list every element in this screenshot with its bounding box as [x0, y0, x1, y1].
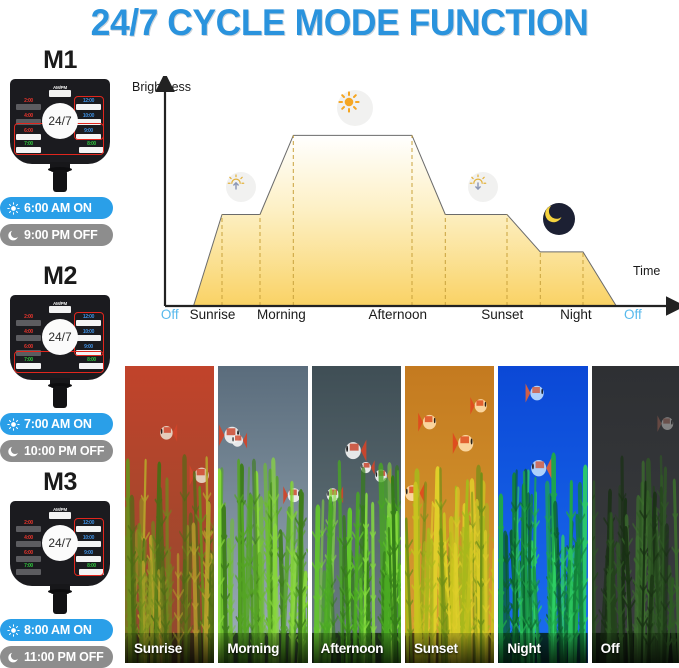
ampm-button[interactable] — [49, 306, 71, 313]
plant-foliage — [218, 449, 307, 663]
timer-key[interactable]: 10:00 — [76, 535, 101, 547]
x-tick-label: Night — [560, 307, 592, 322]
timer-key-column-left: 2:00 4:00 6:00 — [16, 98, 41, 143]
sun-icon — [7, 624, 20, 637]
device-cable — [53, 170, 67, 192]
x-tick-label: Sunset — [481, 307, 523, 322]
panel-plants — [125, 449, 214, 663]
plant-foliage — [125, 449, 214, 663]
timer-key-cap[interactable] — [16, 526, 41, 532]
timer-key[interactable]: 4:00 — [16, 535, 41, 547]
panel-caption: Afternoon — [312, 633, 401, 663]
timer-key-cap[interactable] — [76, 320, 101, 326]
panel-caption: Morning — [218, 633, 307, 663]
timer-key-cap[interactable] — [16, 119, 41, 125]
panel-plants — [218, 449, 307, 663]
timer-key-row-bottom: 7:00 8:00 — [16, 357, 104, 369]
timer-key-cap[interactable] — [76, 119, 101, 125]
panel-caption-label: Off — [601, 641, 620, 656]
plant-foliage — [592, 449, 679, 663]
timer-key-cap[interactable] — [16, 363, 41, 369]
timer-key[interactable]: 7:00 — [16, 357, 41, 369]
timer-device[interactable]: AM/PM 24/7 2:00 4:00 6:00 12:00 10:00 9:… — [8, 79, 112, 192]
timer-key-cap[interactable] — [79, 569, 104, 575]
sun-icon — [337, 90, 361, 114]
photo-panel: Night — [498, 366, 587, 663]
status-badge-off: 11:00 PM OFF — [0, 646, 113, 668]
timer-key[interactable]: 8:00 — [79, 357, 104, 369]
x-tick-label: Off — [161, 307, 179, 322]
timer-key[interactable]: 2:00 — [16, 98, 41, 110]
timer-key-cap[interactable] — [16, 350, 41, 356]
moon-icon — [7, 445, 20, 458]
chart-canvas — [125, 76, 679, 334]
photo-panel: Morning — [218, 366, 307, 663]
x-tick-label: Afternoon — [369, 307, 428, 322]
timer-key-cap[interactable] — [16, 104, 41, 110]
status-badge-off: 9:00 PM OFF — [0, 224, 113, 246]
timer-key-cap[interactable] — [76, 350, 101, 356]
timer-key-cap[interactable] — [79, 363, 104, 369]
mode-dial[interactable]: 24/7 — [42, 525, 78, 561]
panel-caption-label: Morning — [227, 641, 279, 656]
sunrise-icon — [226, 172, 246, 192]
timer-key[interactable]: 2:00 — [16, 314, 41, 326]
moon-icon — [7, 651, 20, 664]
module-title: M1 — [0, 46, 120, 75]
status-badge-on: 8:00 AM ON — [0, 619, 113, 641]
timer-key[interactable]: 7:00 — [16, 141, 41, 153]
panel-caption-label: Afternoon — [321, 641, 384, 656]
timer-key[interactable]: 8:00 — [79, 563, 104, 575]
panel-caption: Sunrise — [125, 633, 214, 663]
x-tick-label: Morning — [257, 307, 306, 322]
timer-key-row-bottom: 7:00 8:00 — [16, 141, 104, 153]
panel-plants — [592, 449, 679, 663]
plant-foliage — [312, 449, 401, 663]
timer-key[interactable]: 4:00 — [16, 329, 41, 341]
panel-plants — [405, 449, 494, 663]
photo-panel: Off — [592, 366, 679, 663]
panel-caption: Off — [592, 633, 679, 663]
timer-device[interactable]: AM/PM 24/7 2:00 4:00 6:00 12:00 10:00 9:… — [8, 501, 112, 614]
moon-icon — [7, 229, 20, 242]
timer-key[interactable]: 10:00 — [76, 329, 101, 341]
curve-badge-night — [543, 203, 575, 235]
ampm-button[interactable] — [49, 512, 71, 519]
x-tick-label: Off — [624, 307, 642, 322]
photo-panel: Sunrise — [125, 366, 214, 663]
timer-key-cap[interactable] — [16, 556, 41, 562]
module-card-m1: M1 AM/PM 24/7 2:00 4:00 6:00 12:00 10:00 — [0, 46, 120, 246]
timer-key[interactable]: 6:00 — [16, 550, 41, 562]
timer-key-cap[interactable] — [76, 526, 101, 532]
plant-foliage — [405, 449, 494, 663]
timer-device[interactable]: AM/PM 24/7 2:00 4:00 6:00 12:00 10:00 9:… — [8, 295, 112, 408]
timer-key-row-bottom: 7:00 8:00 — [16, 563, 104, 575]
timer-key-cap[interactable] — [76, 541, 101, 547]
timer-key-cap[interactable] — [16, 335, 41, 341]
photo-panel: Sunset — [405, 366, 494, 663]
timer-key[interactable]: 12:00 — [76, 314, 101, 326]
panel-plants — [498, 449, 587, 663]
status-badge-off: 10:00 PM OFF — [0, 440, 113, 462]
timer-key-column-right: 12:00 10:00 9:00 — [76, 98, 101, 143]
sunset-icon — [468, 172, 488, 192]
status-badge-on-label: 6:00 AM ON — [24, 201, 92, 215]
timer-key-cap[interactable] — [16, 541, 41, 547]
timer-key[interactable]: 12:00 — [76, 520, 101, 532]
timer-key[interactable]: 4:00 — [16, 113, 41, 125]
timer-key-cap[interactable] — [76, 556, 101, 562]
timer-key-cap[interactable] — [16, 147, 41, 153]
timer-key-cap[interactable] — [16, 569, 41, 575]
status-badge-off-label: 11:00 PM OFF — [24, 650, 104, 664]
device-cable — [53, 386, 67, 408]
brightness-cycle-chart: Brightness Time OffSunriseMorningAfterno… — [125, 76, 679, 334]
panel-caption-label: Sunrise — [134, 641, 182, 656]
timer-key-column-left: 2:00 4:00 6:00 — [16, 314, 41, 359]
status-badge-on: 6:00 AM ON — [0, 197, 113, 219]
timer-key[interactable]: 2:00 — [16, 520, 41, 532]
panel-caption-label: Sunset — [414, 641, 458, 656]
mode-dial[interactable]: 24/7 — [42, 319, 78, 355]
chart-x-tick-labels: OffSunriseMorningAfternoonSunsetNightOff — [125, 307, 679, 327]
timer-key[interactable]: 9:00 — [76, 128, 101, 140]
module-title: M2 — [0, 262, 120, 291]
timer-key-cap[interactable] — [79, 147, 104, 153]
lighting-mode-photo-strip: Sunrise M — [125, 366, 679, 663]
timer-key[interactable]: 9:00 — [76, 344, 101, 356]
timer-key[interactable]: 12:00 — [76, 98, 101, 110]
timer-key[interactable]: 6:00 — [16, 128, 41, 140]
timer-key-cap[interactable] — [16, 134, 41, 140]
moon-icon — [543, 203, 565, 225]
module-title: M3 — [0, 468, 120, 497]
timer-key[interactable]: 6:00 — [16, 344, 41, 356]
device-cable — [53, 592, 67, 614]
panel-caption: Sunset — [405, 633, 494, 663]
timer-key-cap[interactable] — [16, 320, 41, 326]
timer-key-column-left: 2:00 4:00 6:00 — [16, 520, 41, 565]
status-badge-off-label: 10:00 PM OFF — [24, 444, 104, 458]
timer-key[interactable]: 7:00 — [16, 563, 41, 575]
sun-icon — [7, 418, 20, 431]
x-tick-label: Sunrise — [190, 307, 236, 322]
sun-icon — [7, 202, 20, 215]
mode-dial[interactable]: 24/7 — [42, 103, 78, 139]
ampm-button[interactable] — [49, 90, 71, 97]
status-badge-on-label: 8:00 AM ON — [24, 623, 92, 637]
plant-foliage — [498, 449, 587, 663]
timer-key[interactable]: 8:00 — [79, 141, 104, 153]
page-title: 24/7 CYCLE MODE FUNCTION — [14, 2, 666, 44]
timer-key-cap[interactable] — [76, 134, 101, 140]
timer-key[interactable]: 10:00 — [76, 113, 101, 125]
timer-key-cap[interactable] — [76, 104, 101, 110]
timer-key-column-right: 12:00 10:00 9:00 — [76, 520, 101, 565]
panel-plants — [312, 449, 401, 663]
module-card-m2: M2 AM/PM 24/7 2:00 4:00 6:00 12:00 10:00 — [0, 262, 120, 462]
timer-key-column-right: 12:00 10:00 9:00 — [76, 314, 101, 359]
panel-caption: Night — [498, 633, 587, 663]
timer-key[interactable]: 9:00 — [76, 550, 101, 562]
status-badge-on-label: 7:00 AM ON — [24, 417, 92, 431]
photo-panel: Afternoon — [312, 366, 401, 663]
status-badge-off-label: 9:00 PM OFF — [24, 228, 98, 242]
panel-caption-label: Night — [507, 641, 541, 656]
module-card-m3: M3 AM/PM 24/7 2:00 4:00 6:00 12:00 10:00 — [0, 468, 120, 668]
timer-key-cap[interactable] — [76, 335, 101, 341]
status-badge-on: 7:00 AM ON — [0, 413, 113, 435]
